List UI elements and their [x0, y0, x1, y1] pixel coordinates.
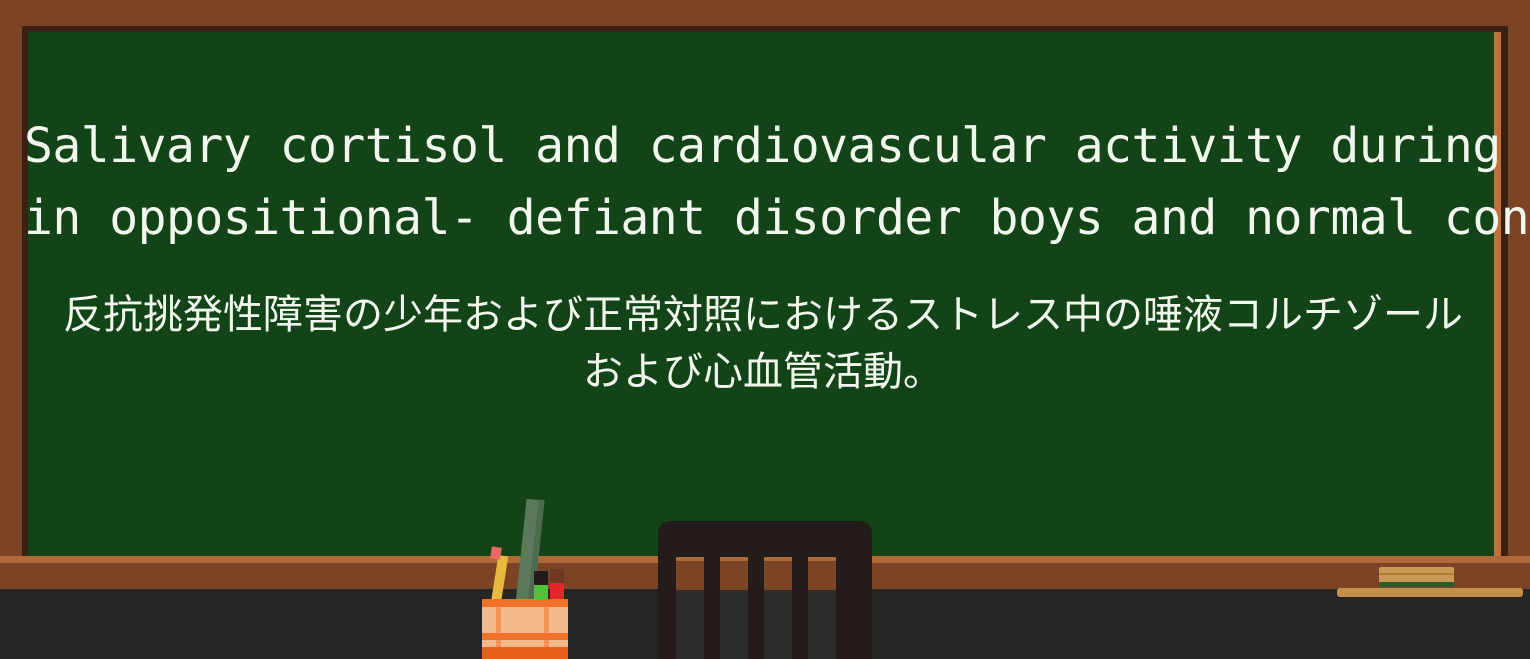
chair-slat-gap-top — [808, 557, 836, 561]
chalkboard-text-area: Salivary cortisol and cardiovascular act… — [28, 32, 1494, 556]
title-japanese: 反抗挑発性障害の少年および正常対照におけるストレス中の唾液コルチゾールおよび心血… — [58, 287, 1468, 401]
chair-slat-gap-top — [720, 557, 748, 561]
chair-slat-gap-bottom — [764, 590, 792, 659]
chair-slat-gap-top — [676, 557, 704, 561]
pencil-cup-group — [470, 495, 580, 659]
chair-slat-gap-top — [764, 557, 792, 561]
classroom-chair — [658, 521, 872, 659]
short-chalk-stick-shadow — [1379, 582, 1454, 587]
chair-slat-gap-bottom — [676, 590, 704, 659]
title-english: Salivary cortisol and cardiovascular act… — [24, 110, 1498, 254]
chair-slat-gap — [764, 557, 792, 659]
red-marker-cap-icon — [550, 569, 564, 583]
chair-slat-gap — [676, 557, 704, 659]
pencil-cup-base-band — [482, 647, 568, 659]
chalkboard-surface: Salivary cortisol and cardiovascular act… — [28, 32, 1494, 556]
short-chalk-stick-line — [1379, 573, 1454, 575]
pencil-eraser-icon — [490, 546, 502, 559]
chair-slat-gap — [720, 557, 748, 659]
pencil-cup-icon — [482, 599, 568, 659]
pencil-cup-rim — [482, 599, 568, 607]
pencil-cup-band — [482, 633, 568, 640]
chalkboard-frame: Salivary cortisol and cardiovascular act… — [0, 0, 1530, 589]
long-chalk-stick-icon — [1337, 588, 1523, 597]
chair-slat-gap-bottom — [808, 590, 836, 659]
chalk-pieces-group — [1340, 555, 1530, 595]
chair-slat-gap — [808, 557, 836, 659]
chair-slat-gap-bottom — [720, 590, 748, 659]
green-marker-cap-icon — [534, 571, 548, 585]
classroom-chalkboard-scene: Salivary cortisol and cardiovascular act… — [0, 0, 1530, 659]
